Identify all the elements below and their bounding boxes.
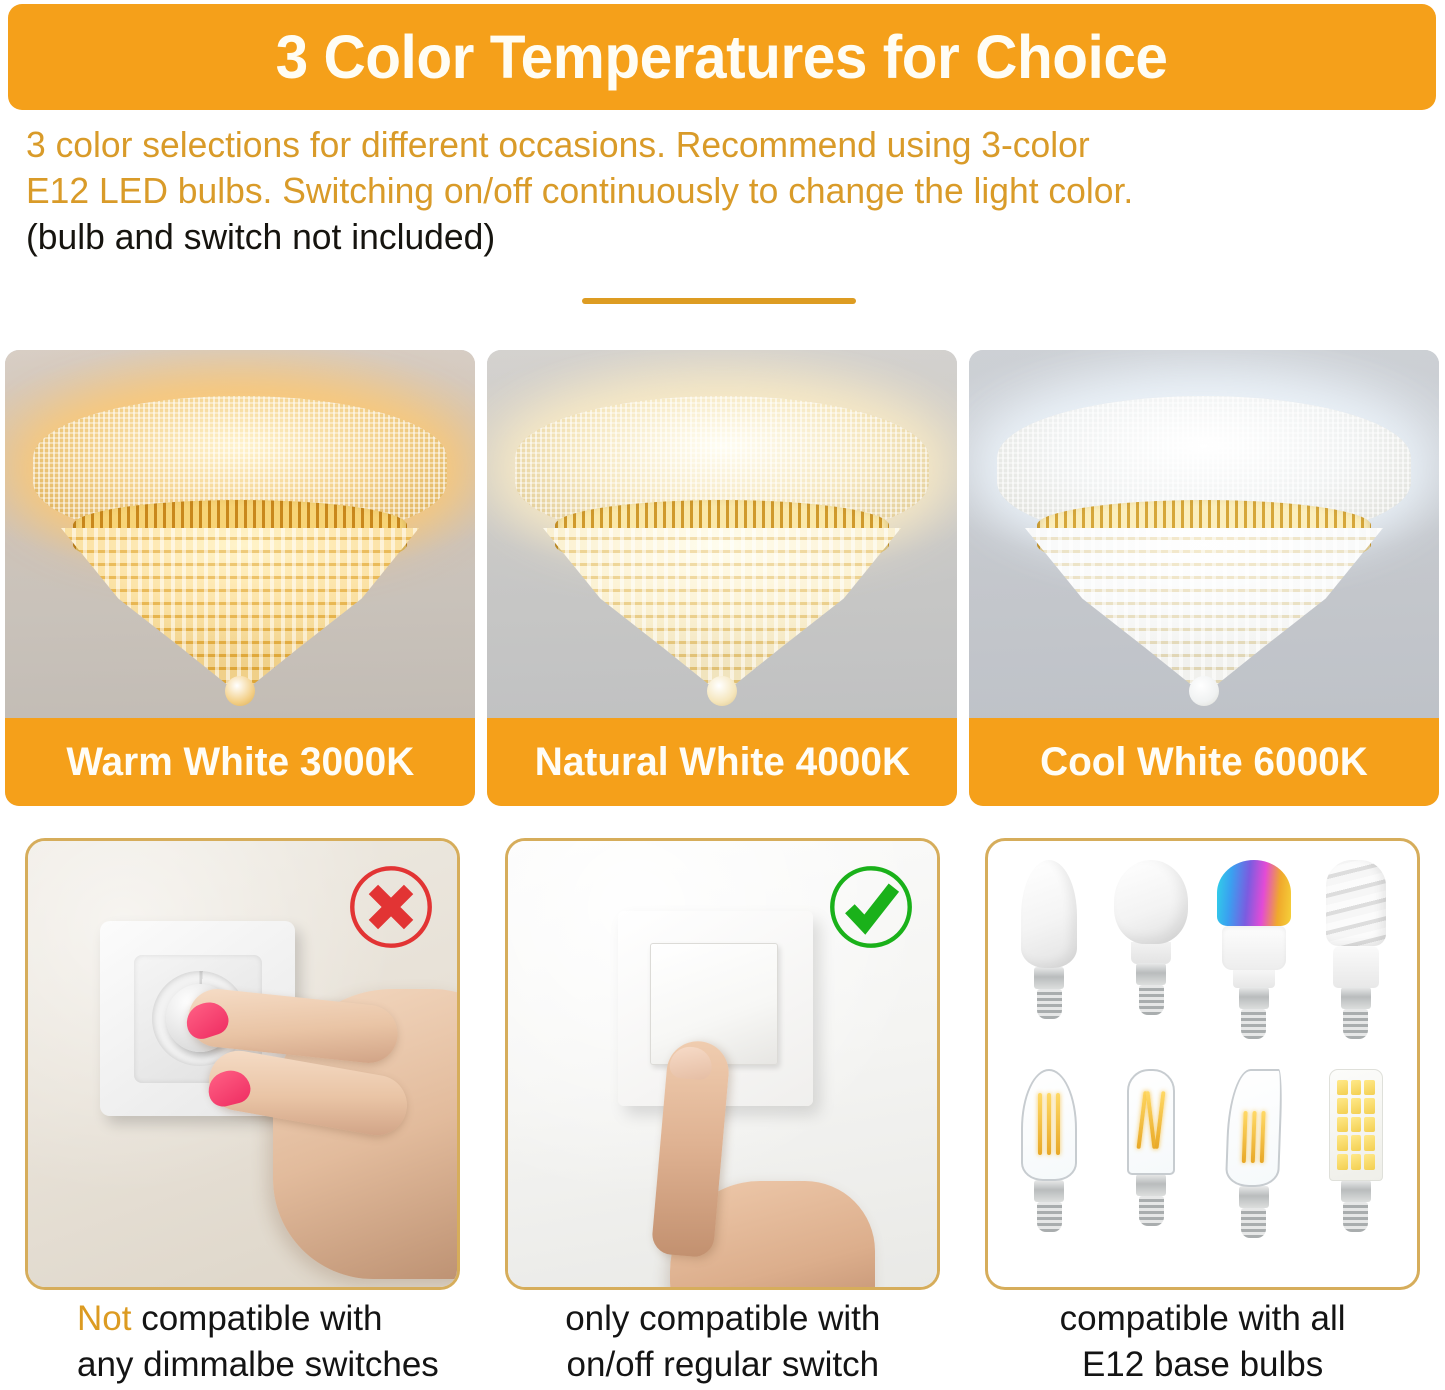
crystal-ceiling-light-icon: [989, 396, 1419, 696]
compatibility-row: [25, 838, 1420, 1290]
section-divider: [582, 298, 856, 304]
frosted-candle-bulb-icon: [999, 860, 1099, 1060]
color-temp-card-warm: Warm White 3000K: [5, 350, 475, 806]
caption-regular-switch-line2: on/off regular switch: [505, 1342, 940, 1388]
hand-graphic: [178, 959, 460, 1290]
flame-tip-filament-bulb-icon: [1204, 1069, 1304, 1269]
caption-highlight-not: Not: [77, 1299, 131, 1338]
rgb-color-bulb-icon: [1204, 860, 1304, 1060]
caption-e12-bulbs-line1: compatible with all: [985, 1296, 1420, 1342]
caption-regular-switch: only compatible with on/off regular swit…: [505, 1296, 940, 1388]
header-banner: 3 Color Temperatures for Choice: [8, 4, 1436, 110]
corn-led-bulb-icon: [1306, 1069, 1406, 1269]
caption-dimmer-line2: any dimmalbe switches: [77, 1342, 460, 1388]
color-temp-label-bar-cool: Cool White 6000K: [969, 718, 1439, 806]
caption-row: Not compatible with any dimmalbe switche…: [25, 1296, 1420, 1388]
e12-bulbs-panel: [985, 838, 1420, 1290]
color-temp-card-natural: Natural White 4000K: [487, 350, 957, 806]
color-temp-label-warm: Warm White 3000K: [66, 740, 414, 785]
intro-line-3: (bulb and switch not included): [26, 214, 1405, 260]
color-temperature-row: Warm White 3000K Natural White 4000K: [5, 350, 1440, 806]
intro-line-2: E12 LED bulbs. Switching on/off continuo…: [26, 168, 1405, 214]
spiral-cfl-bulb-icon: [1306, 860, 1406, 1060]
color-temp-label-cool: Cool White 6000K: [1040, 740, 1368, 785]
caption-dimmer-line1-rest: compatible with: [131, 1299, 382, 1338]
page-title: 3 Color Temperatures for Choice: [276, 22, 1168, 92]
infographic-page: 3 Color Temperatures for Choice 3 color …: [0, 0, 1445, 1390]
regular-switch-panel: [505, 838, 940, 1290]
intro-paragraph: 3 color selections for different occasio…: [26, 122, 1426, 260]
check-icon: [827, 863, 915, 951]
ceiling-light-photo-natural: [487, 350, 957, 718]
caption-regular-switch-line1: only compatible with: [505, 1296, 940, 1342]
clear-filament-candle-bulb-icon: [999, 1069, 1099, 1269]
intro-line-1: 3 color selections for different occasio…: [26, 122, 1405, 168]
hand-graphic: [638, 1041, 888, 1290]
tubular-filament-bulb-icon: [1101, 1069, 1201, 1269]
bulb-grid: [998, 855, 1407, 1273]
caption-e12-bulbs: compatible with all E12 base bulbs: [985, 1296, 1420, 1388]
caption-dimmer: Not compatible with any dimmalbe switche…: [25, 1296, 460, 1388]
ceiling-light-photo-warm: [5, 350, 475, 718]
dimmer-switch-panel: [25, 838, 460, 1290]
color-temp-label-natural: Natural White 4000K: [534, 740, 909, 785]
crystal-ceiling-light-icon: [507, 396, 937, 696]
ceiling-light-photo-cool: [969, 350, 1439, 718]
caption-e12-bulbs-line2: E12 base bulbs: [985, 1342, 1420, 1388]
color-temp-label-bar-warm: Warm White 3000K: [5, 718, 475, 806]
frosted-globe-bulb-icon: [1101, 860, 1201, 1060]
cross-icon: [347, 863, 435, 951]
crystal-ceiling-light-icon: [25, 396, 455, 696]
color-temp-card-cool: Cool White 6000K: [969, 350, 1439, 806]
color-temp-label-bar-natural: Natural White 4000K: [487, 718, 957, 806]
